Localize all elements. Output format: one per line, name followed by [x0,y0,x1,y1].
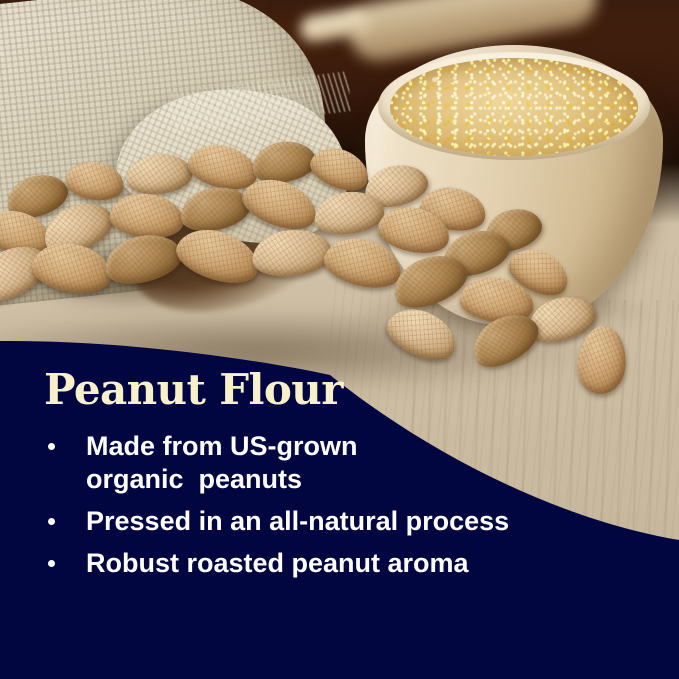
peanut-pile [0,140,660,390]
peanut [108,190,186,241]
copy-block: Peanut Flour Made from US-grown organic … [44,368,604,589]
peanut [176,181,253,237]
feature-bullet-list: Made from US-grown organic peanuts Press… [44,430,604,580]
peanut [171,220,266,292]
peanut [64,158,127,204]
list-item: Robust roasted peanut aroma [44,547,604,580]
list-item: Made from US-grown organic peanuts [44,430,604,496]
peanut [250,226,334,280]
peanut [100,227,187,291]
infographic-canvas: Peanut Flour Made from US-grown organic … [0,0,679,679]
page-title: Peanut Flour [44,368,604,412]
peanut [124,151,194,198]
list-item: Pressed in an all-natural process [44,505,604,538]
